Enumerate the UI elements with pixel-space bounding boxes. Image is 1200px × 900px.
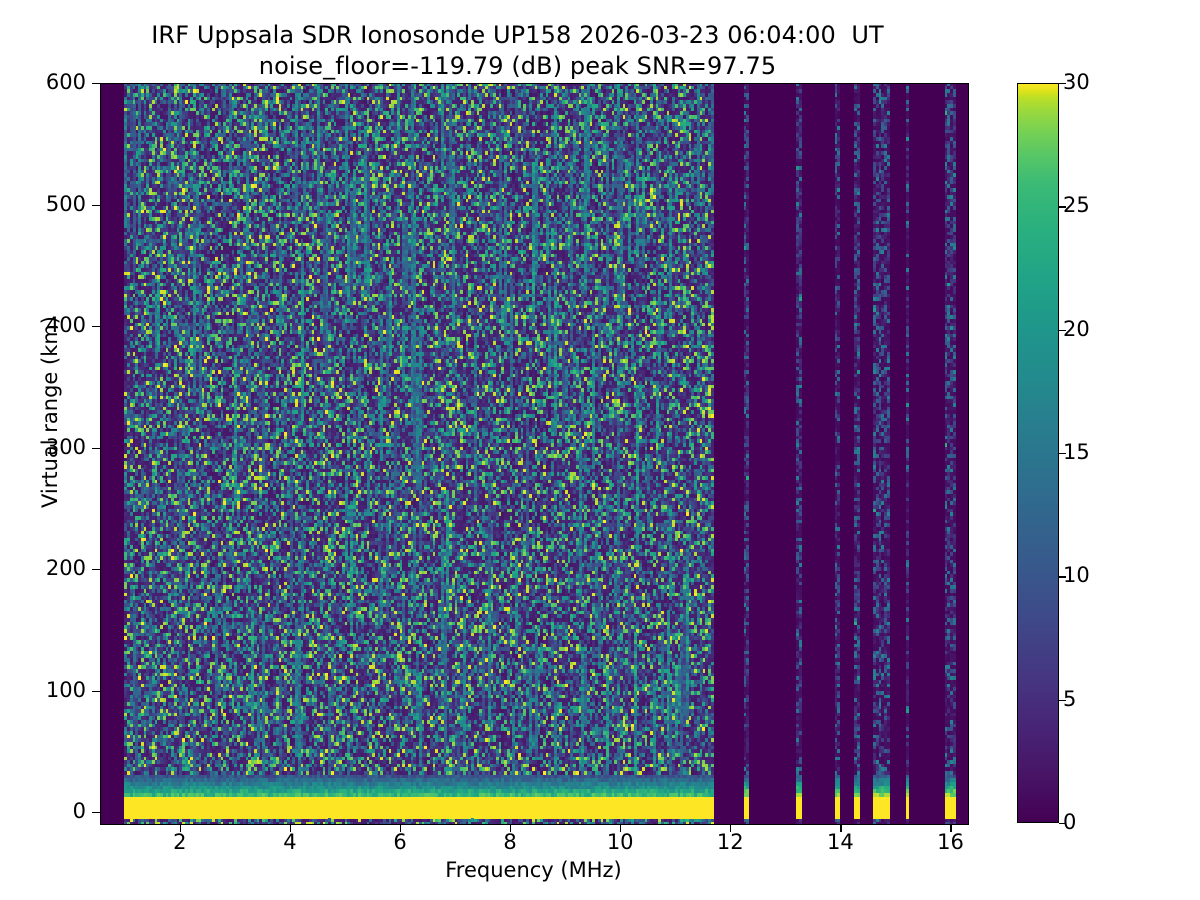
colorbar-tick-mark <box>1059 330 1066 331</box>
x-tick-mark <box>510 824 511 832</box>
ionogram-plot-area <box>100 83 969 825</box>
ionogram-heatmap <box>101 84 968 824</box>
colorbar-tick-label: 10 <box>1063 565 1090 586</box>
colorbar-tick-mark <box>1059 453 1066 454</box>
y-tick-label: 400 <box>0 315 86 336</box>
x-tick-mark <box>620 824 621 832</box>
y-tick-label: 100 <box>0 680 86 701</box>
title-line-2: noise_floor=-119.79 (dB) peak SNR=97.75 <box>0 51 1035 82</box>
y-tick-mark <box>92 83 100 84</box>
heatmap-clip <box>101 84 968 824</box>
ionogram-figure: IRF Uppsala SDR Ionosonde UP158 2026-03-… <box>0 0 1200 900</box>
x-tick-label: 10 <box>580 832 660 853</box>
colorbar-tick-mark <box>1059 576 1066 577</box>
y-axis-label: Virtual range (km) <box>38 212 62 612</box>
colorbar-tick-label: 25 <box>1063 195 1090 216</box>
x-tick-mark <box>730 824 731 832</box>
x-tick-mark <box>400 824 401 832</box>
colorbar: 051015202530 <box>1017 83 1059 823</box>
y-tick-mark <box>92 812 100 813</box>
colorbar-gradient <box>1017 83 1059 823</box>
y-tick-label: 600 <box>0 72 86 93</box>
y-tick-mark <box>92 691 100 692</box>
x-tick-label: 16 <box>910 832 990 853</box>
y-tick-label: 500 <box>0 194 86 215</box>
x-tick-label: 14 <box>800 832 880 853</box>
colorbar-tick-mark <box>1059 823 1066 824</box>
y-tick-mark <box>92 569 100 570</box>
x-tick-label: 4 <box>250 832 330 853</box>
x-tick-label: 8 <box>470 832 550 853</box>
y-tick-mark <box>92 205 100 206</box>
colorbar-tick-label: 30 <box>1063 72 1090 93</box>
x-tick-label: 12 <box>690 832 770 853</box>
y-tick-label: 300 <box>0 437 86 458</box>
colorbar-tick-label: 20 <box>1063 319 1090 340</box>
x-tick-label: 6 <box>360 832 440 853</box>
x-tick-mark <box>840 824 841 832</box>
title-line-1: IRF Uppsala SDR Ionosonde UP158 2026-03-… <box>0 20 1035 51</box>
y-tick-label: 0 <box>0 801 86 822</box>
colorbar-tick-mark <box>1059 206 1066 207</box>
y-tick-mark <box>92 448 100 449</box>
x-tick-mark <box>950 824 951 832</box>
x-tick-mark <box>290 824 291 832</box>
x-axis-label: Frequency (MHz) <box>100 858 967 882</box>
colorbar-tick-mark <box>1059 83 1066 84</box>
colorbar-tick-mark <box>1059 700 1066 701</box>
x-tick-mark <box>180 824 181 832</box>
x-tick-label: 2 <box>140 832 220 853</box>
y-tick-mark <box>92 326 100 327</box>
y-tick-label: 200 <box>0 558 86 579</box>
figure-title: IRF Uppsala SDR Ionosonde UP158 2026-03-… <box>0 20 1035 82</box>
colorbar-tick-label: 15 <box>1063 442 1090 463</box>
